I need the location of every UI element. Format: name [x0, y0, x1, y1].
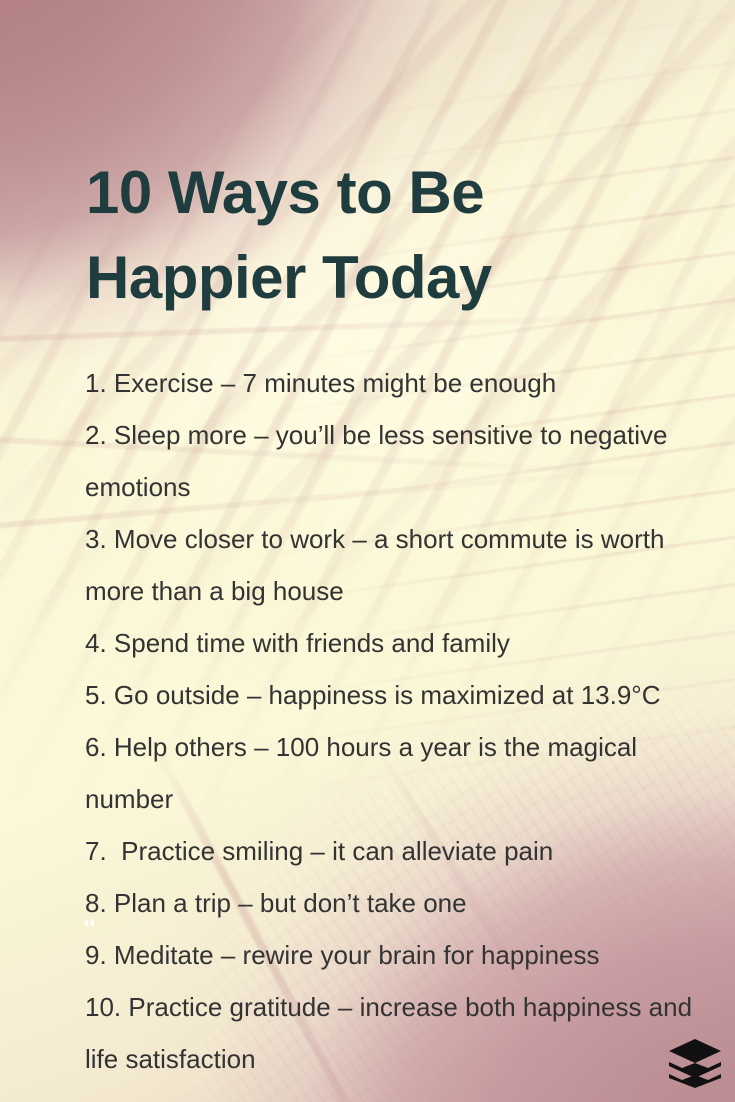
quote-mark-artifact: "	[83, 916, 95, 943]
list-item: 7. Practice smiling – it can alleviate p…	[85, 825, 710, 877]
list-item: 2. Sleep more – you’ll be less sensitive…	[85, 409, 710, 513]
list-item: 10. Practice gratitude – increase both h…	[85, 981, 710, 1085]
list-item: 3. Move closer to work – a short commute…	[85, 513, 710, 617]
list-item: 8. Plan a trip – but don’t take one	[85, 877, 710, 929]
poster-title: 10 Ways to Be Happier Today	[86, 150, 656, 320]
list-item: 9. Meditate – rewire your brain for happ…	[85, 929, 710, 981]
poster-content: 10 Ways to Be Happier Today 1. Exercise …	[0, 0, 735, 1102]
list-item: 5. Go outside – happiness is maximized a…	[85, 669, 710, 721]
list-item: 6. Help others – 100 hours a year is the…	[85, 721, 710, 825]
tips-list: 1. Exercise – 7 minutes might be enough …	[85, 357, 710, 1085]
infographic-poster: 10 Ways to Be Happier Today 1. Exercise …	[0, 0, 735, 1102]
buffer-logo-icon	[668, 1038, 722, 1088]
list-item: 1. Exercise – 7 minutes might be enough	[85, 357, 710, 409]
list-item: 4. Spend time with friends and family	[85, 617, 710, 669]
